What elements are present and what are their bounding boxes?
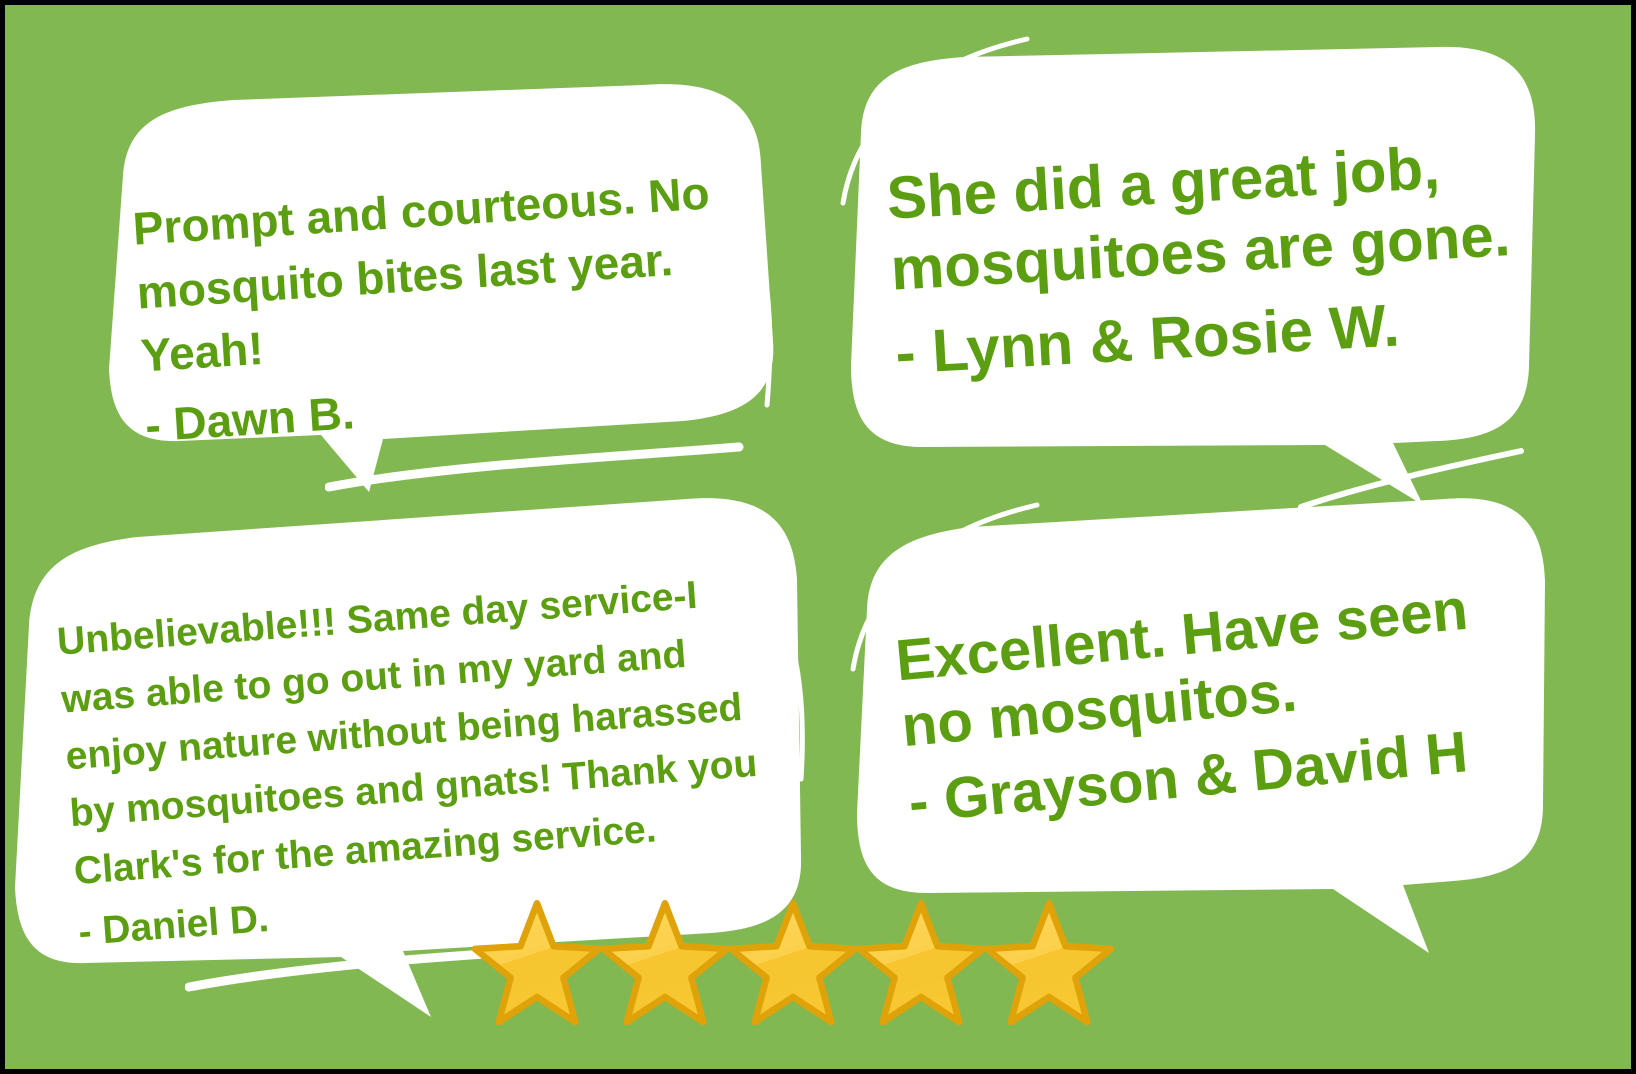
testimonial-bubble-lynn-rosie-w: She did a great job, mosquitoes are gone… xyxy=(833,47,1533,427)
quote-author: - Lynn & Rosie W. xyxy=(894,284,1527,390)
testimonial-bubble-grayson-david-h: Excellent. Have seen no mosquitos. - Gra… xyxy=(843,513,1543,863)
testimonial-bubble-dawn-b: Prompt and courteous. No mosquito bites … xyxy=(83,83,773,423)
star-icon xyxy=(727,897,859,1031)
quote-text-dawn-b: Prompt and courteous. No mosquito bites … xyxy=(127,97,750,521)
quote-body: Unbelievable!!! Same day service-I was a… xyxy=(56,574,759,893)
star-rating xyxy=(471,881,1131,1031)
testimonial-graphic: Prompt and courteous. No mosquito bites … xyxy=(5,5,1631,1069)
star-icon xyxy=(471,897,603,1031)
quote-body: She did a great job, mosquitoes are gone… xyxy=(885,134,1512,302)
star-icon xyxy=(599,897,731,1031)
testimonial-bubble-daniel-d: Unbelievable!!! Same day service-I was a… xyxy=(11,505,801,925)
star-icon xyxy=(983,897,1115,1031)
quote-text-grayson-david-h: Excellent. Have seen no mosquitos. - Gra… xyxy=(887,504,1565,902)
quote-text-lynn-rosie-w: She did a great job, mosquitoes are gone… xyxy=(881,58,1531,461)
quote-body: Prompt and courteous. No mosquito bites … xyxy=(131,167,711,382)
star-icon xyxy=(855,897,987,1031)
